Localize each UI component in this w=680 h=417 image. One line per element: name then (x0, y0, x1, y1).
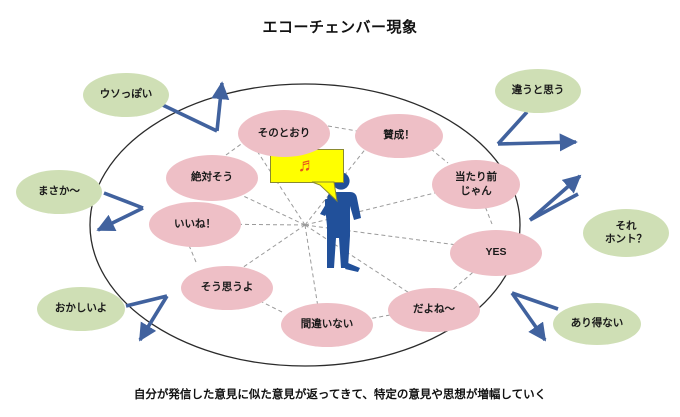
agree-bubble-sansei[interactable]: 賛成！ (355, 114, 443, 158)
agree-bubble-machigainai[interactable]: 間違いない (281, 303, 373, 347)
disagree-bubble-arienai[interactable]: あり得ない (553, 303, 641, 345)
agree-bubble-sonotoori[interactable]: そのとおり (238, 110, 330, 157)
speech-bubble-tail (310, 181, 370, 211)
bubble-label: ウソっぽい (100, 88, 153, 101)
agree-bubble-atarimae[interactable]: 当たり前 じゃん (432, 160, 520, 209)
diagram-canvas: エコーチェンバー現象 (0, 0, 680, 417)
disagree-bubble-sorehonto[interactable]: それ ホント？ (583, 209, 669, 257)
bubble-label: 賛成！ (383, 129, 415, 142)
bubble-label: あり得ない (571, 317, 624, 330)
bubble-label: そう思うよ (201, 281, 254, 294)
agree-bubble-dayone[interactable]: だよね～ (388, 288, 480, 332)
bubble-label: 絶対そう (191, 171, 233, 184)
agree-bubble-iine[interactable]: いいね！ (149, 202, 241, 247)
bubble-label: 当たり前 じゃん (455, 171, 497, 197)
disagree-bubble-usoppoi[interactable]: ウソっぽい (83, 73, 169, 117)
bubble-label: それ ホント？ (605, 220, 647, 246)
music-note-icon: ♬ (298, 156, 317, 175)
bubble-label: 違うと思う (512, 84, 565, 97)
bubble-label: いいね！ (174, 218, 216, 231)
agree-bubble-zettaisou[interactable]: 絶対そう (166, 155, 258, 201)
agree-bubble-souomouyo[interactable]: そう思うよ (181, 266, 273, 310)
bubble-label: そのとおり (258, 127, 311, 140)
disagree-bubble-okashiiyo[interactable]: おかしいよ (37, 287, 125, 331)
disagree-bubble-masaka[interactable]: まさか～ (16, 170, 102, 214)
bubble-label: だよね～ (413, 303, 455, 316)
diagram-caption: 自分が発信した意見に似た意見が返ってきて、特定の意見や思想が増幅していく (0, 386, 680, 402)
bubble-label: YES (485, 246, 506, 259)
bubble-label: まさか～ (38, 185, 80, 198)
bubble-label: おかしいよ (55, 302, 107, 315)
agree-bubble-yes[interactable]: YES (450, 230, 542, 276)
disagree-bubble-chigautoomou[interactable]: 違うと思う (495, 69, 581, 113)
bubble-label: 間違いない (301, 318, 354, 331)
